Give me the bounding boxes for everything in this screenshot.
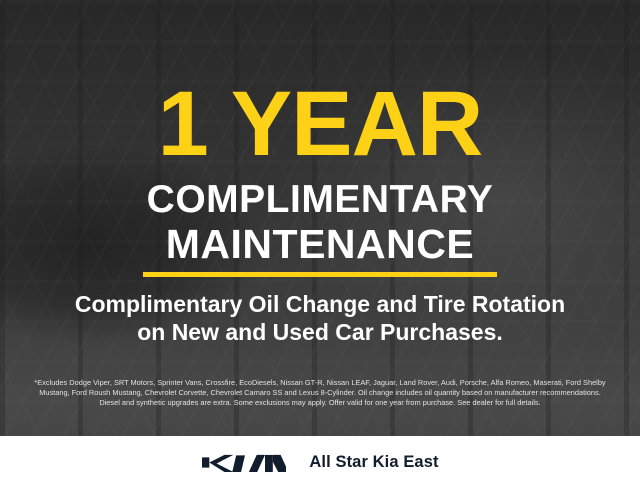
headline-complimentary: COMPLIMENTARY xyxy=(0,180,640,220)
headline-maintenance: MAINTENANCE xyxy=(0,223,640,265)
offer-description: Complimentary Oil Change and Tire Rotati… xyxy=(20,290,620,346)
kia-logo xyxy=(201,452,287,473)
promo-banner: 1 YEAR COMPLIMENTARY MAINTENANCE Complim… xyxy=(0,0,640,488)
offer-line-2: on New and Used Car Purchases. xyxy=(20,318,620,346)
dealer-name: All Star Kia East xyxy=(309,453,438,472)
disclaimer-text: *Excludes Dodge Viper, SRT Motors, Sprin… xyxy=(14,378,626,408)
yellow-divider-rule xyxy=(143,272,497,277)
disclaimer-line-1: *Excludes Dodge Viper, SRT Motors, Sprin… xyxy=(14,378,626,388)
disclaimer-line-2: Mustang, Ford Roush Mustang, Chevrolet C… xyxy=(14,388,626,398)
hero-content: 1 YEAR COMPLIMENTARY MAINTENANCE Complim… xyxy=(0,0,640,436)
hero-section: 1 YEAR COMPLIMENTARY MAINTENANCE Complim… xyxy=(0,0,640,436)
headline-year: 1 YEAR xyxy=(0,78,640,170)
offer-line-1: Complimentary Oil Change and Tire Rotati… xyxy=(20,290,620,318)
kia-logo-icon xyxy=(201,452,287,473)
footer-bar: All Star Kia East xyxy=(0,436,640,488)
disclaimer-line-3: Diesel and synthetic upgrades are extra.… xyxy=(14,398,626,408)
